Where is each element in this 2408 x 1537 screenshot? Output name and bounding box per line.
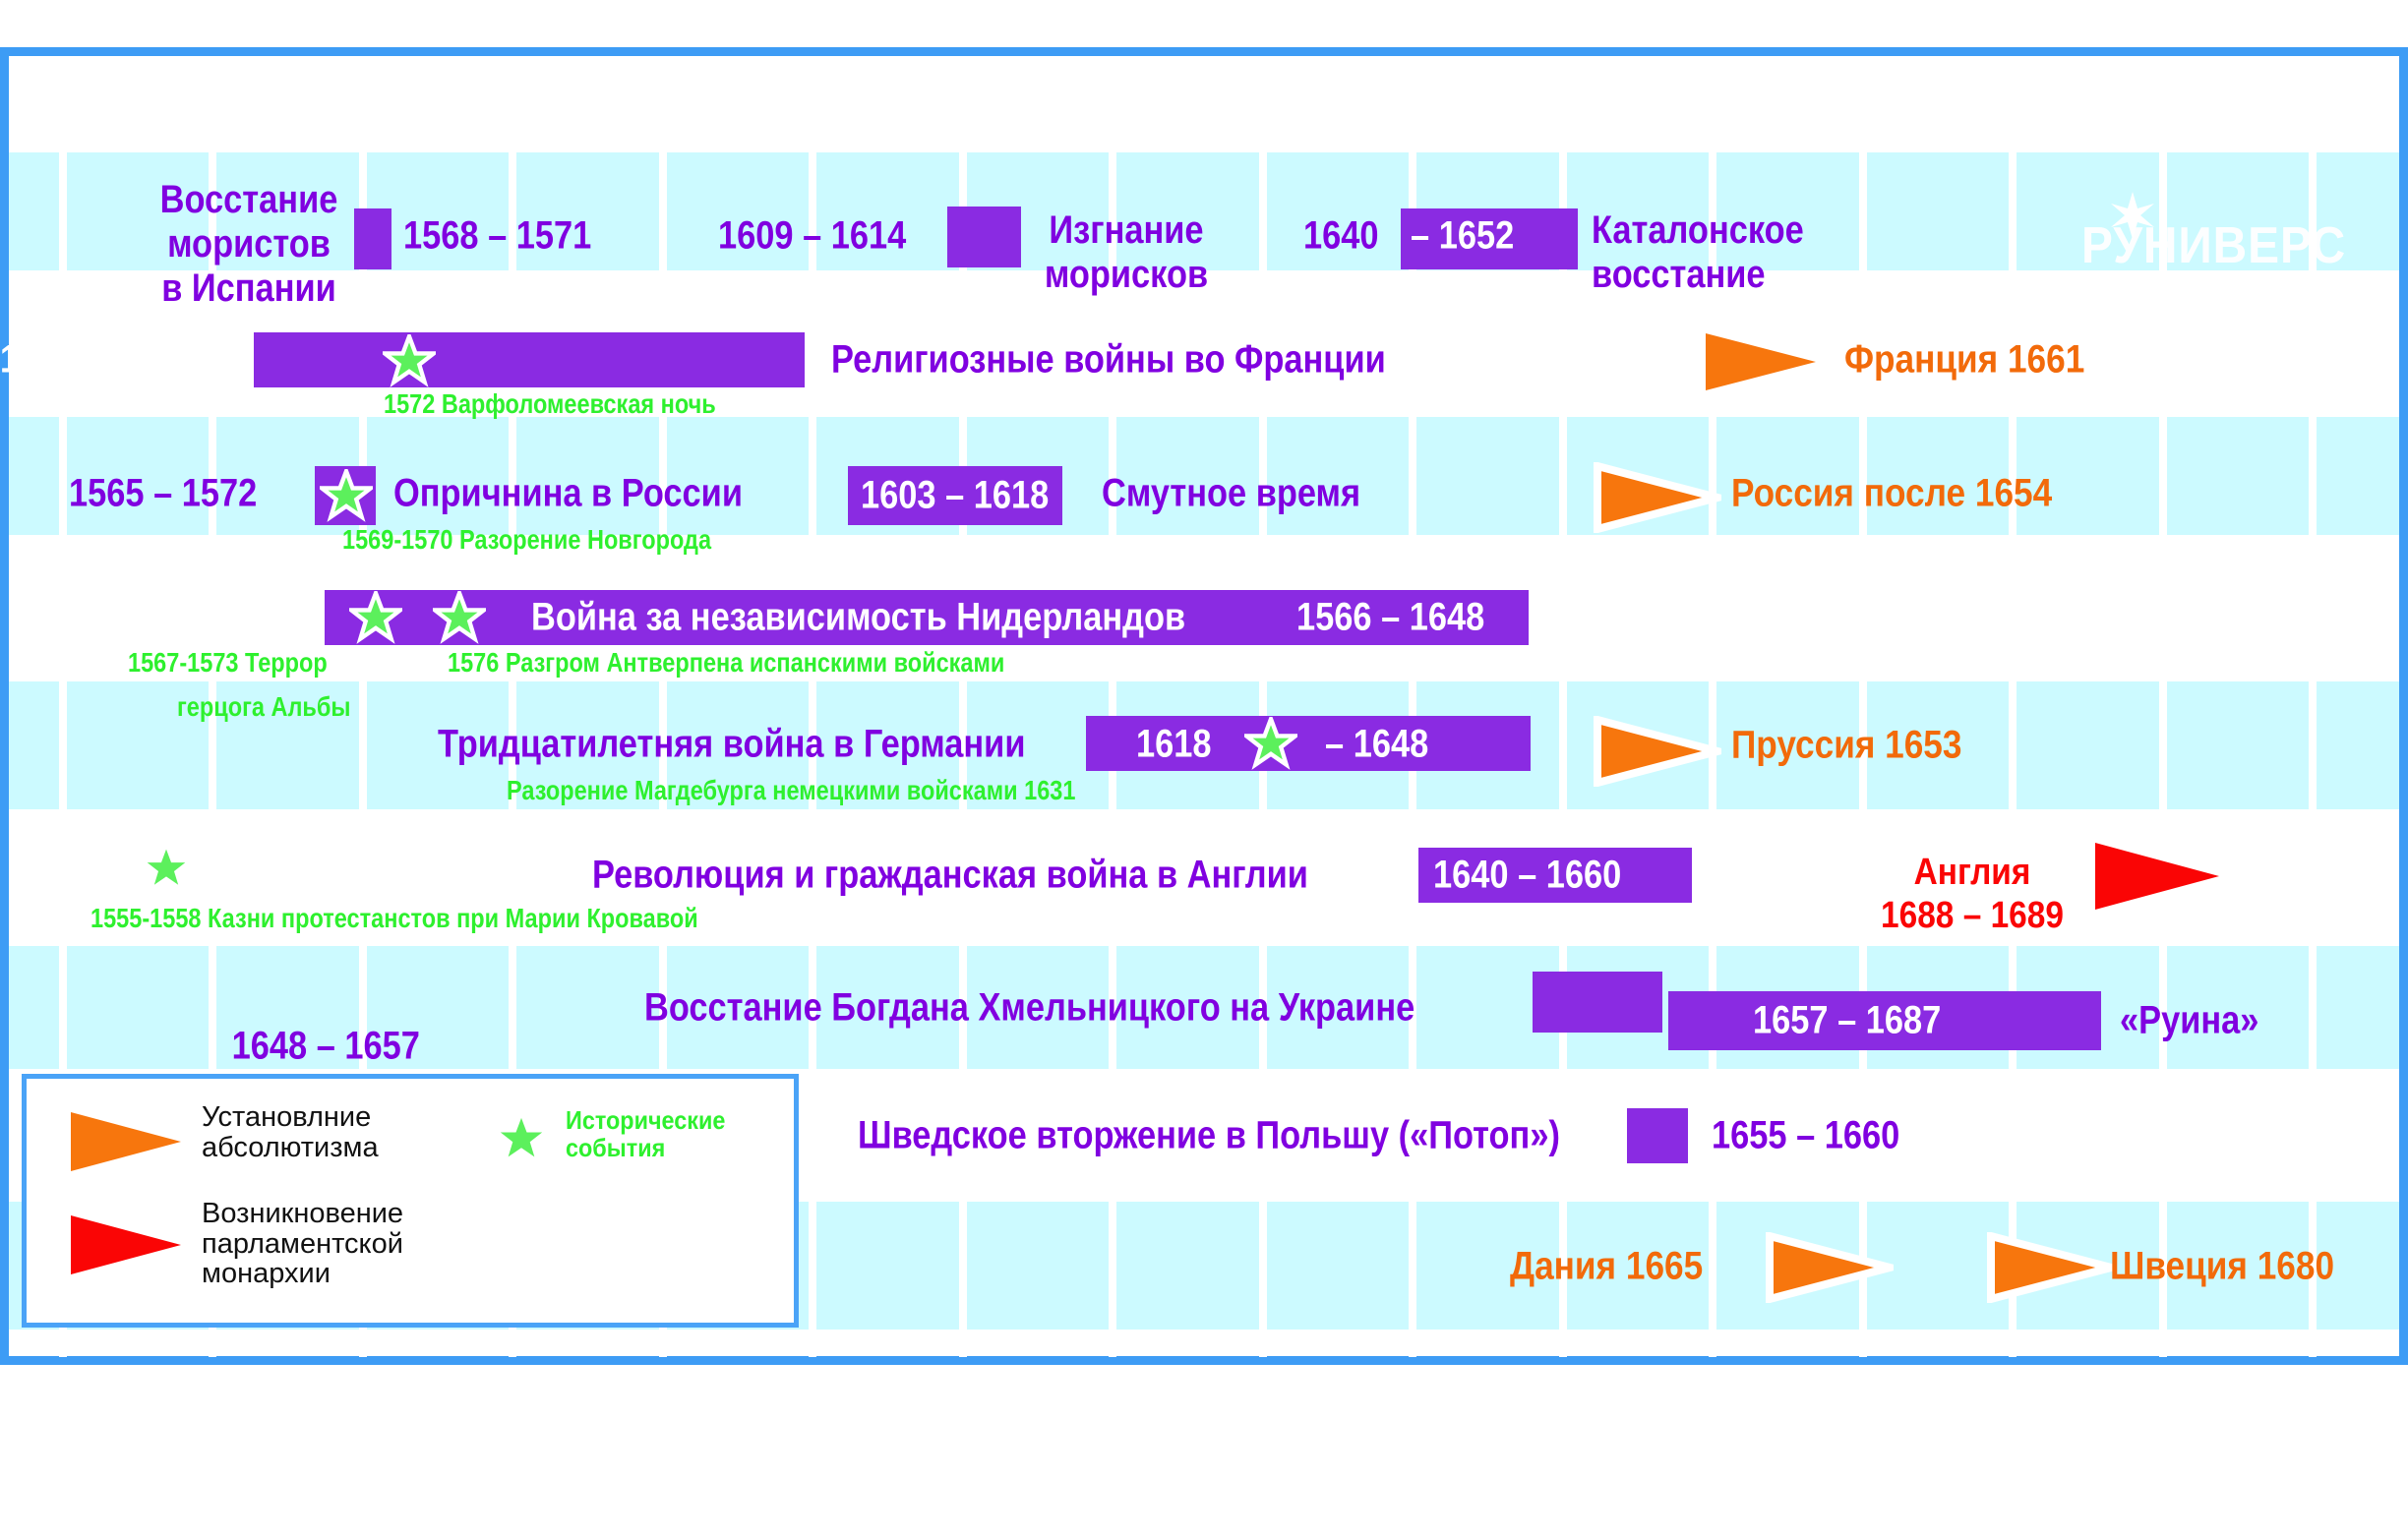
- grid-line: [1559, 106, 1567, 1357]
- bar-morisco-expulsion: [947, 207, 1021, 267]
- label-antwerp-sack: 1576 Разгром Антверпена испанскими войск…: [448, 647, 1004, 679]
- label-ruin: «Руина»: [2120, 999, 2258, 1043]
- label-england: Англия: [1914, 854, 2031, 893]
- orange-arrow-icon: [1766, 1232, 1894, 1303]
- orange-arrow-icon: [1594, 462, 1721, 533]
- label-time-of-troubles: Смутное время: [1102, 472, 1360, 516]
- label-alba-terror-line1: 1567-1573 Террор: [128, 647, 328, 679]
- label-1648: – 1648: [1325, 723, 1428, 767]
- label-1640: 1640: [1303, 214, 1379, 259]
- legend-parliamentary-line1: Возникновение: [202, 1199, 403, 1229]
- label-english-revolution: Революция и гражданская война в Англии: [592, 854, 1308, 898]
- legend-events-line1: Исторические: [566, 1106, 725, 1134]
- bar-swedish-deluge: [1627, 1108, 1688, 1163]
- legend-events-label: Исторические события: [566, 1106, 743, 1161]
- grid-line: [2309, 106, 2317, 1357]
- label-alba-terror-line2: герцога Альбы: [177, 691, 350, 723]
- orange-arrow-icon: [1702, 329, 1820, 394]
- legend-events-line2: события: [566, 1134, 725, 1161]
- historic-event-star-icon: [349, 591, 402, 644]
- historic-event-star-icon: [1244, 717, 1297, 770]
- label-morisco-expulsion: Изгнание морисков: [1045, 208, 1208, 297]
- label-prussia-1653: Пруссия 1653: [1731, 724, 1961, 768]
- label-swedish-deluge: Шведское вторжение в Польшу («Потоп»): [858, 1114, 1560, 1158]
- bar-morisco-revolt: [354, 208, 391, 269]
- red-arrow-icon: [2093, 841, 2221, 912]
- label-oprichnina: Опричнина в России: [393, 472, 743, 516]
- label-1566-1648: 1566 – 1648: [1296, 596, 1484, 640]
- orange-arrow-icon: [1987, 1232, 2115, 1303]
- label-novgorod-massacre: 1569-1570 Разорение Новгорода: [342, 524, 711, 556]
- label-catalan-revolt: Каталонское восстание: [1592, 208, 1804, 297]
- grid-line: [2159, 106, 2167, 1357]
- label-thirty-years-war: Тридцатилетняя война в Германии: [438, 723, 1025, 767]
- legend-red-arrow-icon: [68, 1212, 184, 1276]
- label-magdeburg-sack: Разорение Магдебурга немецкими войсками …: [507, 775, 1075, 806]
- legend-parliamentary-line2: парламентской: [202, 1229, 403, 1260]
- historic-event-star-icon: [146, 848, 187, 889]
- label-1655-1660: 1655 – 1660: [1712, 1114, 1899, 1158]
- label-denmark-1665: Дания 1665: [1510, 1245, 1703, 1289]
- grid-line: [2009, 106, 2017, 1357]
- label-russia-after-1654: Россия после 1654: [1731, 472, 2052, 516]
- legend-absolutism-line1: Установлние: [202, 1102, 379, 1133]
- orange-arrow-icon: [1594, 716, 1721, 787]
- label-1609-1614: 1609 – 1614: [718, 214, 906, 259]
- label-1568-1571: 1568 – 1571: [403, 214, 591, 259]
- label-dutch-revolt: Война за независимость Нидерландов: [531, 596, 1185, 640]
- label-french-wars-of-religion: Религиозные войны во Франции: [831, 338, 1386, 383]
- legend-parliamentary-line3: монархии: [202, 1259, 403, 1289]
- star-burst-icon: [2107, 190, 2158, 241]
- legend-green-star-icon: [499, 1116, 544, 1161]
- label-1688-1689: 1688 – 1689: [1881, 897, 2064, 936]
- label-1603-1618: 1603 – 1618: [861, 474, 1049, 518]
- label-1652: – 1652: [1411, 214, 1514, 259]
- legend-absolutism-line2: абсолютизма: [202, 1133, 379, 1163]
- label-morisco-revolt: Восстание мористов в Испании: [160, 178, 338, 310]
- legend-box: Установлние абсолютизма Возникновение па…: [22, 1074, 799, 1328]
- label-1618: 1618: [1136, 723, 1212, 767]
- label-1648-1657: 1648 – 1657: [232, 1025, 1655, 1069]
- label-1562-1598: 1562 – 1598: [0, 338, 684, 383]
- historic-event-star-icon: [433, 591, 486, 644]
- label-1657-1687: 1657 – 1687: [1753, 999, 1941, 1043]
- label-1640-1660: 1640 – 1660: [1433, 854, 1621, 898]
- historic-event-star-icon: [320, 469, 373, 522]
- legend-absolutism-label: Установлние абсолютизма: [202, 1102, 379, 1162]
- label-st-bartholomews-night: 1572 Варфоломеевская ночь: [384, 388, 716, 420]
- label-france-1661: Франция 1661: [1844, 338, 2084, 383]
- label-sweden-1680: Швеция 1680: [2110, 1245, 2334, 1289]
- legend-parliamentary-label: Возникновение парламентской монархии: [202, 1199, 403, 1289]
- legend-orange-arrow-icon: [68, 1108, 184, 1173]
- label-1565-1572: 1565 – 1572: [69, 472, 257, 516]
- label-bloody-mary-executions: 1555-1558 Казни протестанстов при Марии …: [90, 903, 698, 934]
- timeline-infographic: 1550 1600 1650 1700 Восстание мористов в…: [0, 0, 2408, 1537]
